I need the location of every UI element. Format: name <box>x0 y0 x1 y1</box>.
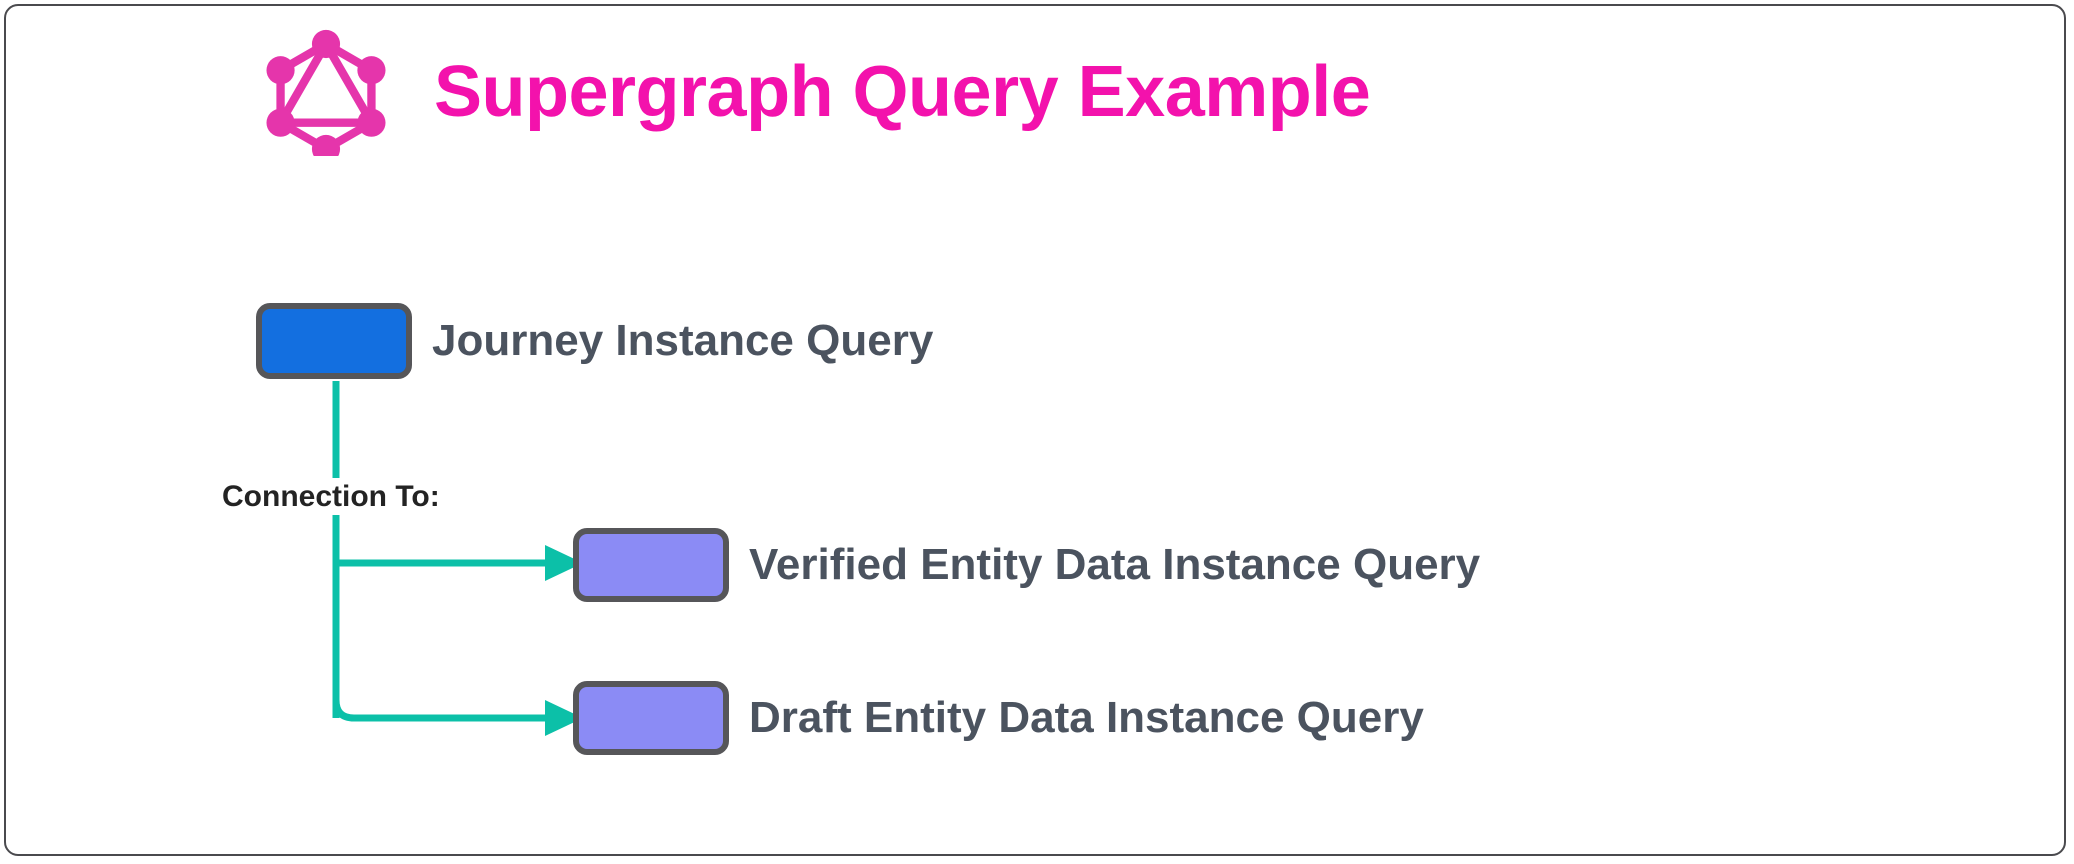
node-label-verified-entity-data-instance-query: Verified Entity Data Instance Query <box>749 543 1480 587</box>
node-verified-entity-data-instance-query[interactable]: Verified Entity Data Instance Query <box>573 528 1480 602</box>
page-header: Supergraph Query Example <box>262 28 1370 156</box>
connection-to-label: Connection To: <box>218 478 444 515</box>
node-draft-entity-data-instance-query[interactable]: Draft Entity Data Instance Query <box>573 681 1424 755</box>
node-journey-instance-query[interactable]: Journey Instance Query <box>256 303 933 379</box>
node-box-journey-instance-query[interactable] <box>256 303 412 379</box>
node-box-verified-entity-data-instance-query[interactable] <box>573 528 729 602</box>
node-label-draft-entity-data-instance-query: Draft Entity Data Instance Query <box>749 696 1424 740</box>
node-label-journey-instance-query: Journey Instance Query <box>432 319 933 363</box>
node-box-draft-entity-data-instance-query[interactable] <box>573 681 729 755</box>
diagram-canvas: Supergraph Query Example Connection To: … <box>0 0 2074 864</box>
graphql-logo-icon <box>262 28 390 156</box>
page-title: Supergraph Query Example <box>434 56 1370 128</box>
